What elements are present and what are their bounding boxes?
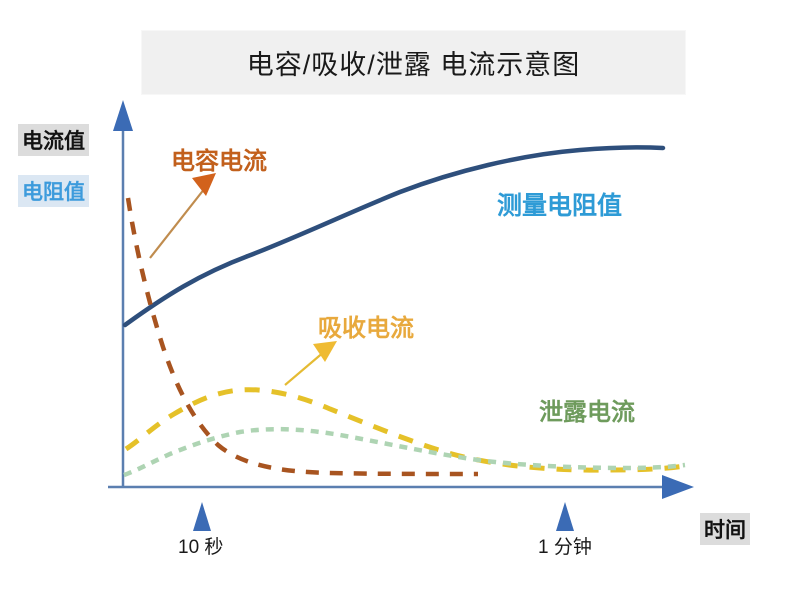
annotation-arrow-absorption-line bbox=[285, 351, 325, 385]
curve-label-capacitive: 电容电流 bbox=[171, 141, 267, 176]
y-axis-label-current: 电流值 bbox=[18, 124, 89, 156]
annotation-arrow-capacitive-head-icon bbox=[192, 173, 216, 196]
chart-plot-area bbox=[0, 0, 807, 602]
y-axis-arrow-icon bbox=[113, 100, 133, 131]
annotation-arrow-capacitive-line bbox=[150, 188, 205, 258]
x-tick-label-1-minute: 1 分钟 bbox=[538, 532, 592, 559]
chart-canvas: 电容/吸收/泄露 电流示意图 电流值 电阻值 时间 10 秒 1 分钟 bbox=[0, 0, 807, 602]
tick-marker-1-minute bbox=[556, 502, 574, 531]
x-axis-arrow-icon bbox=[662, 475, 694, 499]
curve-label-leakage: 泄露电流 bbox=[539, 392, 635, 427]
curve-capacitive bbox=[128, 198, 478, 474]
curve-label-absorption: 吸收电流 bbox=[318, 308, 414, 343]
x-tick-label-10-seconds: 10 秒 bbox=[178, 532, 223, 559]
y-axis-label-resistance: 电阻值 bbox=[18, 175, 89, 207]
tick-marker-10-seconds bbox=[193, 502, 211, 531]
curve-label-resistance: 测量电阻值 bbox=[497, 186, 622, 222]
x-axis-label-time: 时间 bbox=[700, 513, 750, 545]
